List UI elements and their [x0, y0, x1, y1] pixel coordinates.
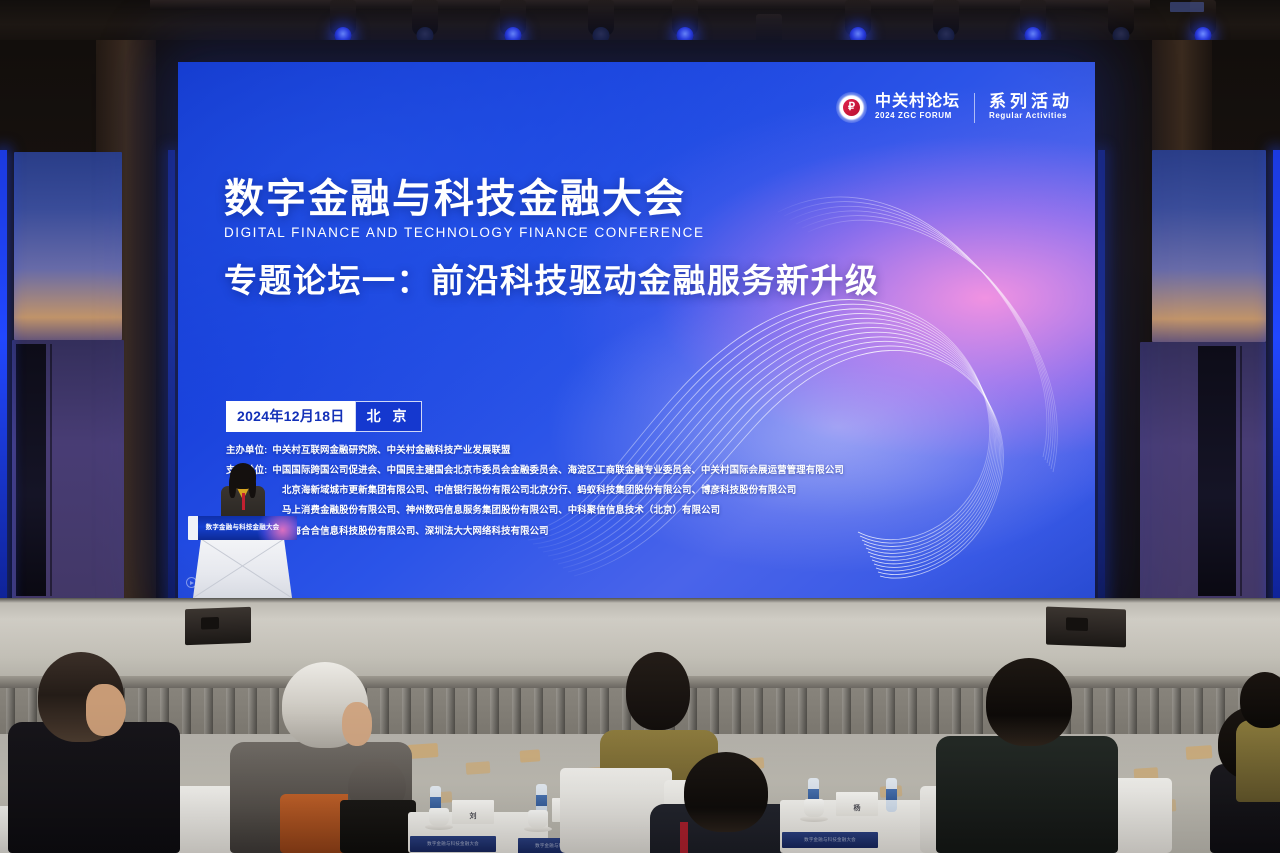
name-tent-card-3: 杨 — [836, 792, 878, 816]
stage-shadow — [0, 598, 1280, 603]
table-namecard-1: 数字金融与科技金融大会 — [410, 836, 496, 852]
teacup-1 — [429, 808, 449, 826]
forum-session-title: 专题论坛一：前沿科技驱动金融服务新升级 — [224, 254, 880, 302]
lighting-truss — [150, 0, 1150, 10]
conference-title-en: DIGITAL FINANCE AND TECHNOLOGY FINANCE C… — [224, 225, 880, 240]
right-door — [1198, 346, 1236, 596]
conference-hall-photo: ₽ 中关村论坛 2024 ZGC FORUM 系列活动 Regular Acti… — [0, 0, 1280, 853]
led-screen: ₽ 中关村论坛 2024 ZGC FORUM 系列活动 Regular Acti… — [178, 62, 1095, 598]
person-1-face — [86, 684, 126, 736]
stage-light-8 — [933, 0, 959, 36]
conference-headline: 数字金融与科技金融大会 DIGITAL FINANCE AND TECHNOLO… — [224, 177, 880, 302]
person-1-body — [8, 722, 180, 853]
right-led-strip — [1273, 150, 1280, 620]
organizer-text: 马上消费金融股份有限公司、神州数码信息服务集团股份有限公司、中科聚信信息技术（北… — [282, 504, 720, 515]
person-3-head — [626, 652, 690, 730]
stage-monitor-left — [185, 607, 251, 645]
right-wall-panel-upper — [1152, 150, 1266, 342]
emblem-glyph: ₽ — [843, 99, 860, 116]
organizer-text: 中国国际跨国公司促进会、中国民主建国会北京市委员会金融委员会、海淀区工商联金融专… — [272, 464, 844, 475]
person-2-coat — [340, 800, 416, 853]
person-7-body — [1236, 720, 1280, 802]
person-2-ear — [342, 702, 372, 746]
forum-emblem-icon: ₽ — [836, 92, 867, 123]
logo-secondary-en: Regular Activities — [989, 111, 1073, 121]
lectern-sign-block — [188, 516, 198, 540]
tent-card-name: 刘 — [470, 811, 477, 821]
namecard-text: 数字金融与科技金融大会 — [427, 841, 479, 847]
speaker-lanyard — [242, 493, 245, 510]
teacup-2 — [528, 810, 548, 828]
stage-light-4 — [588, 0, 614, 36]
stage-monitor-right — [1046, 607, 1126, 648]
logo-secondary-cn: 系列活动 — [989, 93, 1073, 111]
person-2-scarf — [280, 794, 348, 853]
lectern-x-pattern — [193, 539, 292, 598]
organizer-line: 马上消费金融股份有限公司、神州数码信息服务集团股份有限公司、中科聚信信息技术（北… — [226, 503, 844, 517]
organizer-list: 主办单位:中关村互联网金融研究院、中关村金融科技产业发展联盟 支持单位:中国国际… — [226, 443, 844, 544]
organizer-line: 主办单位:中关村互联网金融研究院、中关村金融科技产业发展联盟 — [226, 443, 844, 457]
event-date: 2024年12月18日 — [226, 401, 356, 432]
logo-cn-name: 中关村论坛 — [875, 94, 960, 111]
stage-light-3 — [500, 0, 526, 36]
person-4-head — [684, 752, 768, 832]
organizer-text: 上海合合信息科技股份有限公司、深圳法大大网络科技有限公司 — [282, 525, 549, 536]
left-led-strip — [0, 150, 7, 620]
left-wall-panel-upper — [14, 152, 122, 340]
stage-light-5 — [672, 0, 698, 36]
right-inner-led-strip — [1098, 150, 1105, 620]
person-5-body — [936, 736, 1118, 853]
stage-light-9 — [1020, 0, 1046, 36]
person-4-lanyard — [680, 822, 688, 853]
date-location-badge: 2024年12月18日 北 京 — [226, 401, 422, 432]
audience-person-7 — [1236, 672, 1280, 802]
person-5-head — [986, 658, 1072, 746]
lectern-sign: 数字金融与科技金融大会 — [188, 516, 297, 540]
left-inner-led-strip — [168, 150, 175, 610]
organizer-line: 上海合合信息科技股份有限公司、深圳法大大网络科技有限公司 — [226, 524, 844, 538]
audience-person-5 — [936, 658, 1126, 853]
table-namecard-3: 数字金融与科技金融大会 — [782, 832, 878, 848]
left-panel-seam — [50, 344, 52, 596]
tent-card-name: 杨 — [854, 803, 861, 813]
logo-divider — [974, 93, 975, 123]
person-7-head — [1240, 672, 1280, 728]
left-door — [16, 344, 46, 596]
organizer-label: 主办单位: — [226, 444, 267, 455]
logo-en-name: 2024 ZGC FORUM — [875, 111, 960, 121]
audience-person-2 — [230, 662, 420, 853]
logo-primary: ₽ 中关村论坛 2024 ZGC FORUM — [836, 92, 960, 123]
stage-light-10 — [1108, 0, 1134, 36]
zgc-forum-logo: ₽ 中关村论坛 2024 ZGC FORUM 系列活动 Regular Acti… — [836, 92, 1073, 123]
organizer-text: 中关村互联网金融研究院、中关村金融科技产业发展联盟 — [272, 444, 510, 455]
stage-light-1 — [330, 0, 356, 36]
organizer-line: 支持单位:中国国际跨国公司促进会、中国民主建国会北京市委员会金融委员会、海淀区工… — [226, 463, 844, 477]
organizer-line: 北京海新域城市更新集团有限公司、中信银行股份有限公司北京分行、蚂蚁科技集团股份有… — [226, 483, 844, 497]
right-panel-seam — [1240, 346, 1242, 596]
teacup-3 — [804, 799, 824, 817]
speaker-hair-right — [249, 474, 256, 498]
name-tent-card-1: 刘 — [452, 800, 494, 824]
organizer-text: 北京海新域城市更新集团有限公司、中信银行股份有限公司北京分行、蚂蚁科技集团股份有… — [282, 484, 796, 495]
lectern-sign-text: 数字金融与科技金融大会 — [206, 524, 280, 531]
audience-person-1 — [8, 652, 188, 853]
lectern: 数字金融与科技金融大会 — [195, 516, 290, 598]
speaker-hair-left — [229, 474, 236, 498]
stage-light-7 — [845, 0, 871, 36]
ceiling-panel-light — [1170, 2, 1204, 12]
speaker-person — [215, 466, 271, 520]
stage-light-2 — [412, 0, 438, 36]
event-city: 北 京 — [355, 401, 423, 432]
conference-title-cn: 数字金融与科技金融大会 — [224, 177, 880, 222]
namecard-text: 数字金融与科技金融大会 — [804, 837, 856, 843]
water-bottle-4 — [886, 778, 897, 812]
